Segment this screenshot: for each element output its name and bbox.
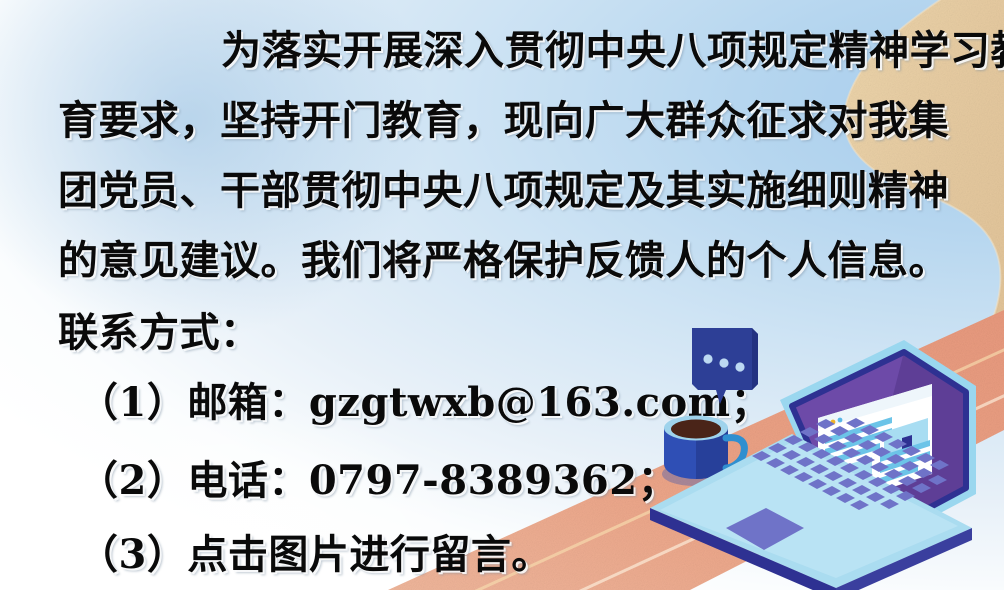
body-line-1: 为落实开展深入贯彻中央八项规定精神学习教: [140, 18, 1004, 76]
contact-item-phone: （2）电话：0797-8389362；: [78, 448, 678, 506]
body-line-2: 育要求，坚持开门教育，现向广大群众征求对我集: [58, 88, 949, 146]
contact-heading: 联系方式：: [58, 300, 261, 358]
contact-item-image-message: （3）点击图片进行留言。: [78, 522, 552, 580]
body-line-3: 团党员、干部贯彻中央八项规定及其实施细则精神: [58, 158, 949, 216]
chat-bubble-icon: [692, 328, 758, 404]
poster-canvas: 为落实开展深入贯彻中央八项规定精神学习教 育要求，坚持开门教育，现向广大群众征求…: [0, 0, 1004, 590]
laptop-illustration[interactable]: [640, 322, 1004, 590]
body-line-4: 的意见建议。我们将严格保护反馈人的个人信息。: [58, 228, 949, 286]
